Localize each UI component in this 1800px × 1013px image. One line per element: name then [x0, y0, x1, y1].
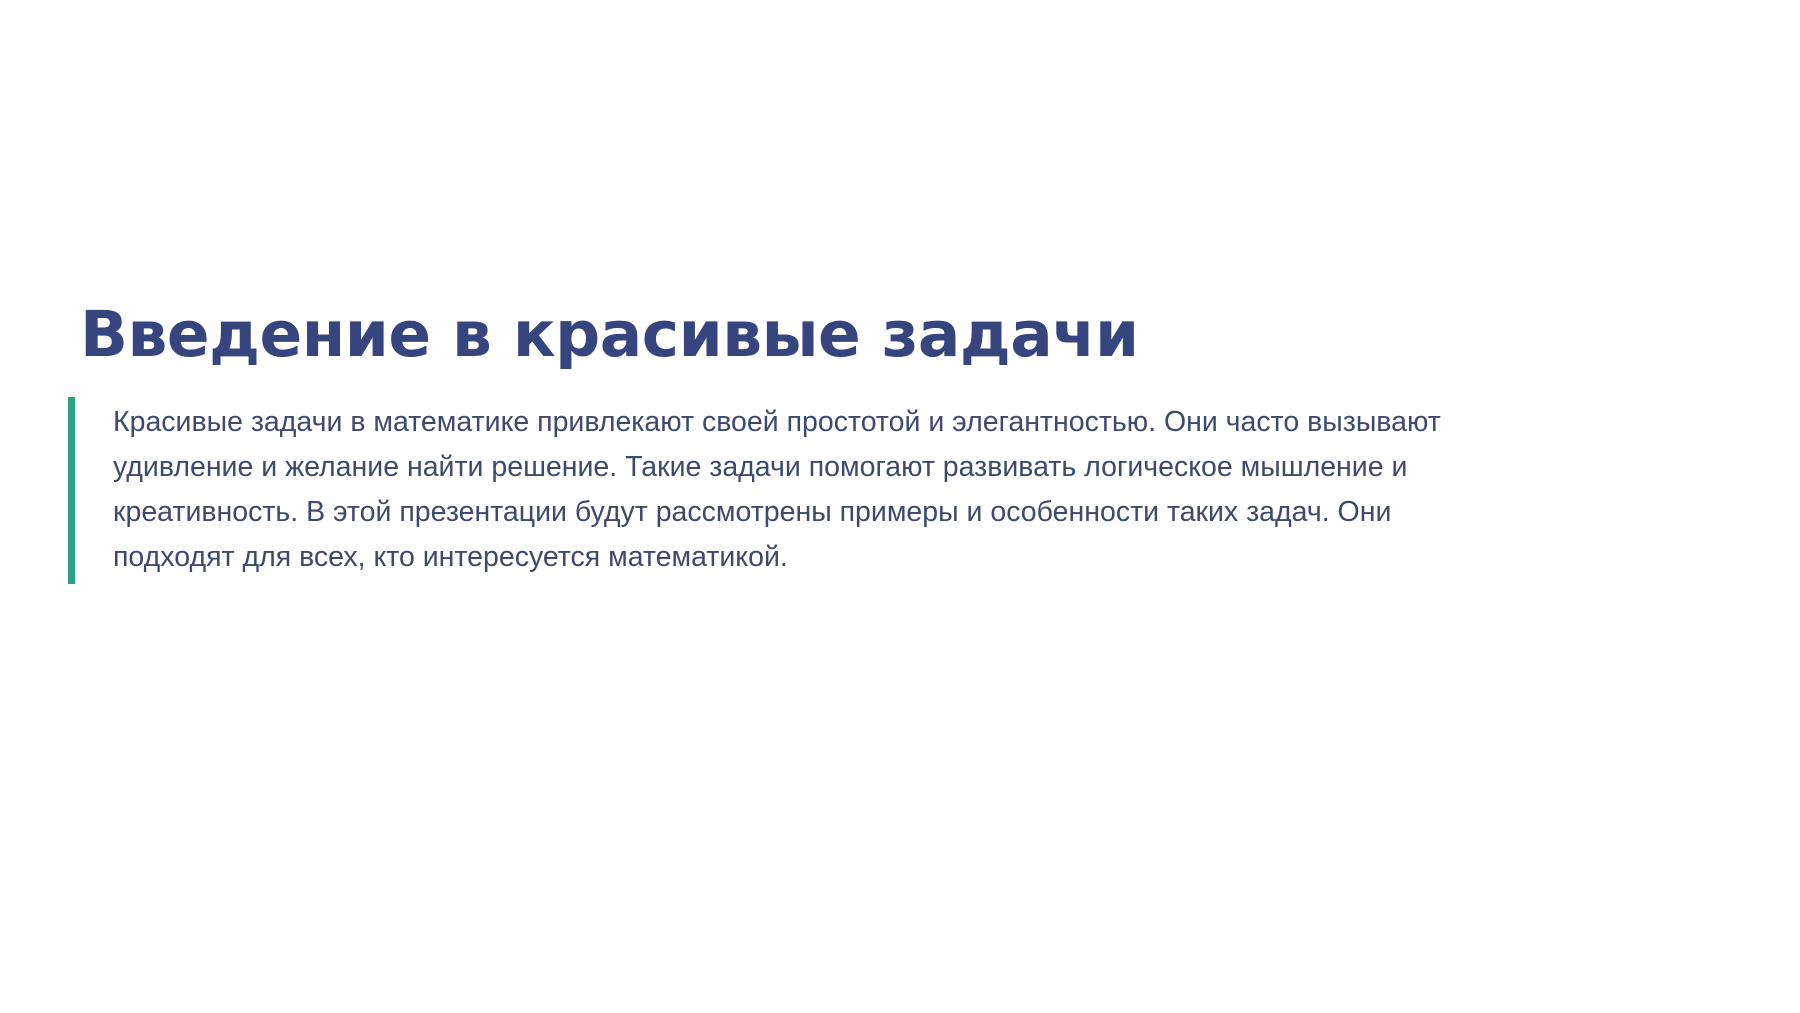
slide-content: Введение в красивые задачи Красивые зада… [68, 300, 1732, 584]
page-title: Введение в красивые задачи [68, 300, 1732, 371]
body-paragraph: Красивые задачи в математике привлекают … [113, 397, 1513, 584]
slide-canvas: Введение в красивые задачи Красивые зада… [0, 0, 1800, 1013]
body-block: Красивые задачи в математике привлекают … [68, 397, 1732, 584]
accent-bar [68, 397, 75, 584]
